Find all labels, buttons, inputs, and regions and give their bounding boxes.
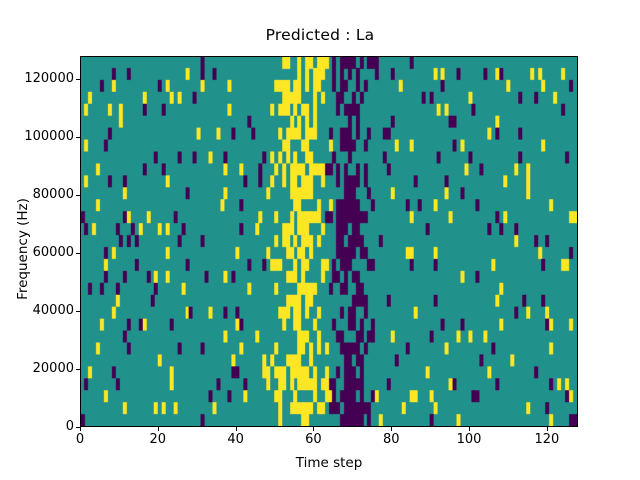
y-tick-label: 80000 xyxy=(2,187,74,202)
y-tick-mark xyxy=(76,137,80,138)
x-tick-label-group: 020406080100120 xyxy=(0,0,640,480)
x-tick-mark xyxy=(547,427,548,431)
x-tick-mark xyxy=(158,427,159,431)
y-tick-mark xyxy=(76,79,80,80)
x-tick-mark xyxy=(80,427,81,431)
x-tick-label: 20 xyxy=(128,432,188,447)
y-tick-label: 40000 xyxy=(2,303,74,318)
x-tick-label: 120 xyxy=(517,432,577,447)
x-axis-label: Time step xyxy=(80,455,578,471)
y-axis-label: Frequency (Hz) xyxy=(15,129,31,369)
matplotlib-figure: Predicted : La 020406080100120 020000400… xyxy=(0,0,640,480)
x-tick-label: 40 xyxy=(206,432,266,447)
y-tick-mark xyxy=(76,195,80,196)
y-tick-label: 0 xyxy=(2,419,74,434)
y-tick-mark xyxy=(76,369,80,370)
x-tick-label: 60 xyxy=(283,432,343,447)
y-tick-mark xyxy=(76,427,80,428)
y-tick-label: 120000 xyxy=(2,71,74,86)
x-tick-mark xyxy=(469,427,470,431)
x-tick-mark xyxy=(313,427,314,431)
x-tick-label: 80 xyxy=(361,432,421,447)
y-tick-label: 20000 xyxy=(2,361,74,376)
x-tick-mark xyxy=(391,427,392,431)
y-tick-mark xyxy=(76,311,80,312)
y-tick-label: 100000 xyxy=(2,129,74,144)
x-tick-label: 100 xyxy=(439,432,499,447)
y-tick-mark xyxy=(76,253,80,254)
y-tick-label: 60000 xyxy=(2,245,74,260)
y-tick-label-group: 020000400006000080000100000120000 xyxy=(0,0,74,480)
x-tick-mark xyxy=(236,427,237,431)
